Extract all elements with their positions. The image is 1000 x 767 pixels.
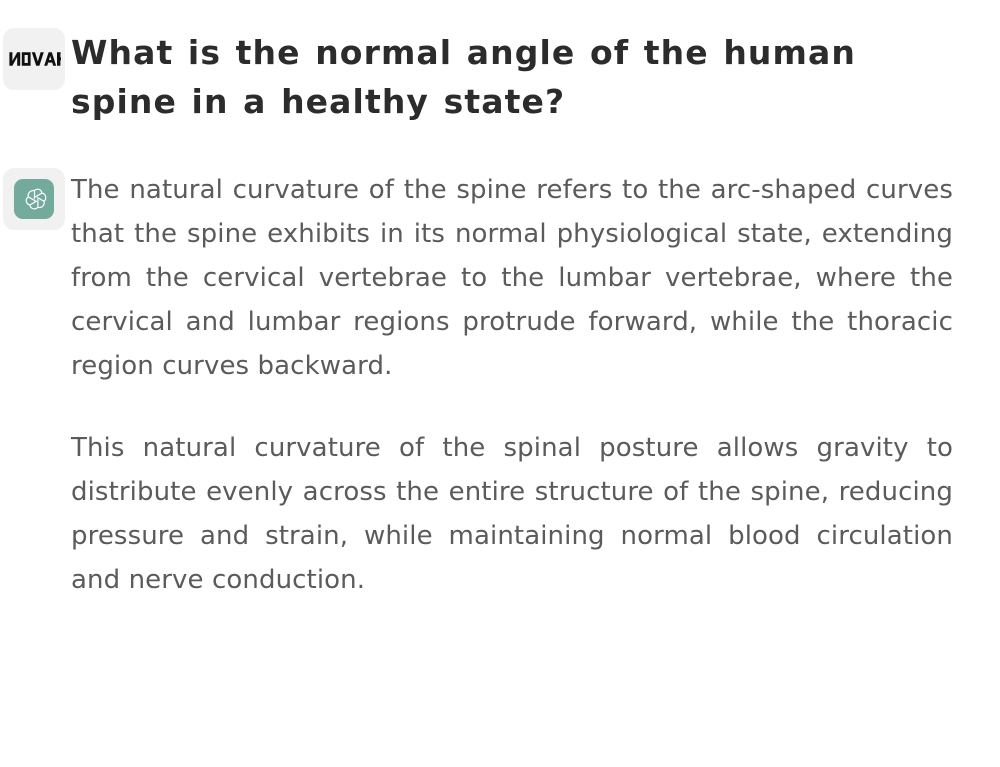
question-text: What is the normal angle of the human sp… <box>71 28 961 126</box>
answer-paragraph-2: This natural curvature of the spinal pos… <box>71 426 953 602</box>
answer-message: The natural curvature of the spine refer… <box>3 168 988 602</box>
answer-body: The natural curvature of the spine refer… <box>71 168 953 602</box>
openai-badge <box>14 179 54 219</box>
answer-paragraph-1: The natural curvature of the spine refer… <box>71 168 953 388</box>
openai-logo-icon <box>3 168 65 230</box>
question-message: What is the normal angle of the human sp… <box>3 28 988 126</box>
novah-logo-icon <box>3 28 65 90</box>
chat-transcript-page: What is the normal angle of the human sp… <box>0 0 1000 767</box>
novah-wordmark <box>4 51 65 67</box>
